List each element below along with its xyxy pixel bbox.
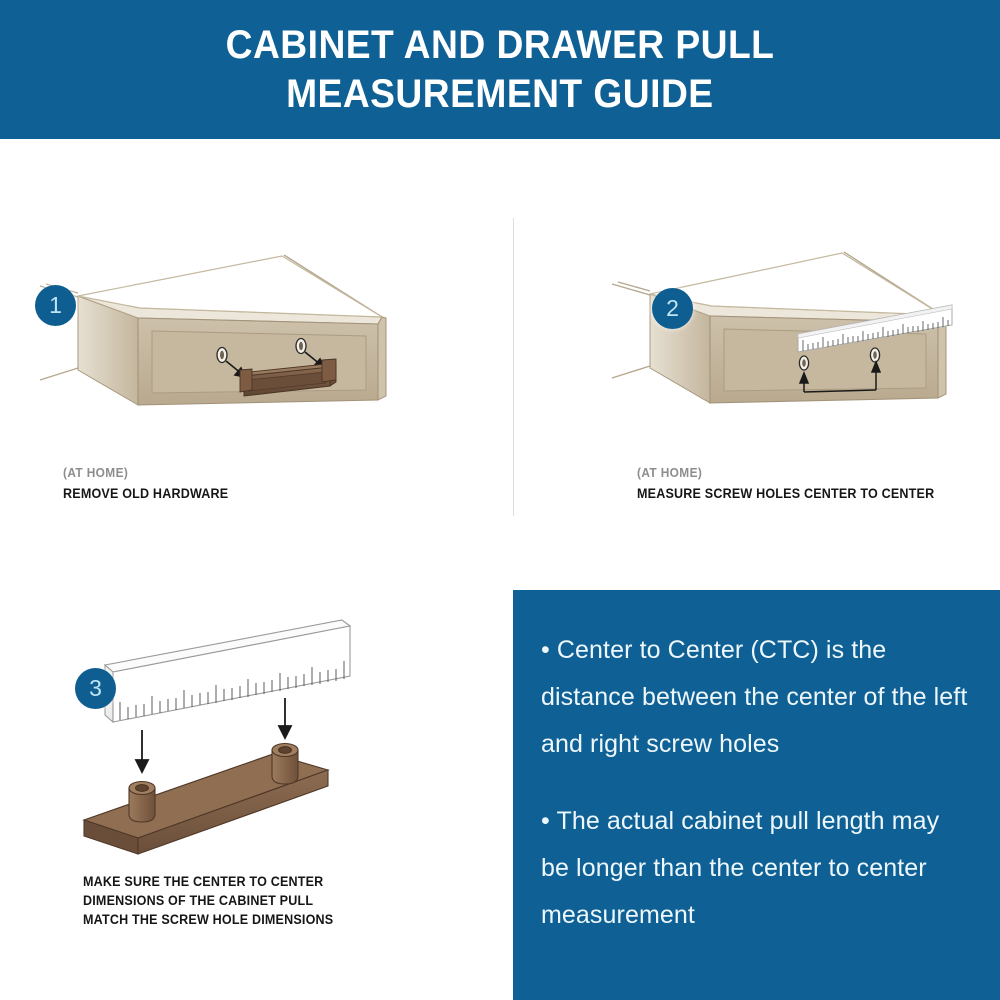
caption-step-2: (AT HOME) MEASURE SCREW HOLES CENTER TO … <box>637 466 957 503</box>
info-box: • Center to Center (CTC) is the distance… <box>513 590 1000 1000</box>
panel-step-2: 2 <box>600 200 990 520</box>
caption-main-3-line-3: MATCH THE SCREW HOLE DIMENSIONS <box>83 910 333 929</box>
caption-main-1: REMOVE OLD HARDWARE <box>63 484 228 503</box>
caption-step-1: (AT HOME) REMOVE OLD HARDWARE <box>63 466 241 503</box>
screw-hole-left <box>799 356 808 370</box>
screw-hole-right <box>870 348 879 362</box>
drawer-right-side <box>378 317 386 400</box>
caption-sub-1: (AT HOME) <box>63 466 232 480</box>
panel-divider <box>513 218 514 516</box>
figure-match-dimensions <box>30 610 500 890</box>
header-title-line-1: CABINET AND DRAWER PULL <box>226 21 775 70</box>
info-bullet-1: • Center to Center (CTC) is the distance… <box>541 627 970 768</box>
ruler-angled <box>105 620 350 722</box>
post-left <box>129 782 155 823</box>
header-banner: CABINET AND DRAWER PULL MEASUREMENT GUID… <box>0 0 1000 139</box>
info-bullet-2: • The actual cabinet pull length may be … <box>541 798 970 939</box>
step-badge-2: 2 <box>652 288 693 329</box>
panel-step-3: 3 <box>30 610 500 970</box>
panel-step-1: 1 <box>30 200 500 520</box>
screw-hole-left <box>217 348 227 363</box>
post-right <box>272 744 298 785</box>
step-badge-1: 1 <box>35 285 76 326</box>
caption-step-3: MAKE SURE THE CENTER TO CENTER DIMENSION… <box>83 872 352 929</box>
arrow-down-left <box>136 730 148 772</box>
step-badge-3: 3 <box>75 668 116 709</box>
caption-main-2: MEASURE SCREW HOLES CENTER TO CENTER <box>637 484 934 503</box>
caption-main-3-line-1: MAKE SURE THE CENTER TO CENTER <box>83 872 333 891</box>
caption-main-3-line-2: DIMENSIONS OF THE CABINET PULL <box>83 891 333 910</box>
caption-sub-2: (AT HOME) <box>637 466 941 480</box>
screw-hole-right <box>296 339 306 354</box>
header-title-line-2: MEASUREMENT GUIDE <box>286 70 713 119</box>
arrow-down-right <box>279 698 291 738</box>
